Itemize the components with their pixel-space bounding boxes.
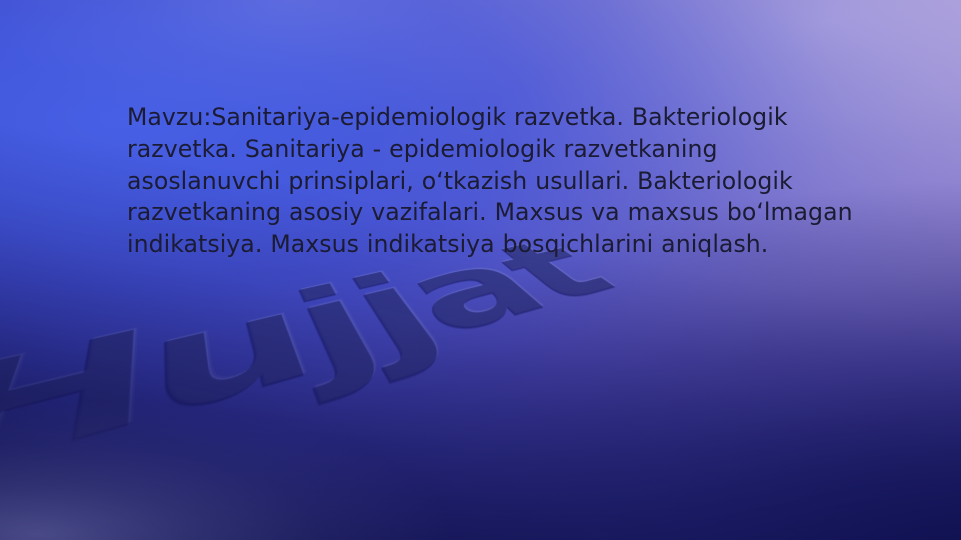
presentation-slide: Hujjat Hujjat Mavzu:Sanitariya-epidemiol… bbox=[0, 0, 961, 540]
slide-body-text: Mavzu:Sanitariya-epidemiologik razvetka.… bbox=[127, 102, 875, 261]
slide-background-bottom-left-glow bbox=[0, 0, 961, 540]
slide-content: Mavzu:Sanitariya-epidemiologik razvetka.… bbox=[127, 102, 875, 261]
